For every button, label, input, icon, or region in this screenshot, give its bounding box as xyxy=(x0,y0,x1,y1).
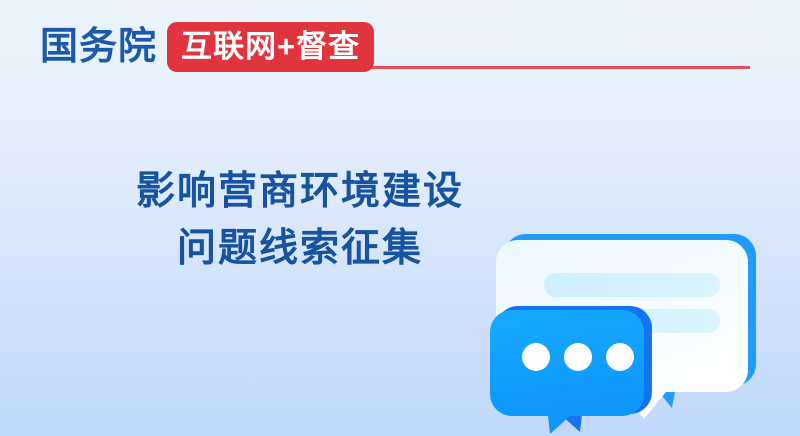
organization-name: 国务院 xyxy=(40,28,157,66)
front-bubble-body xyxy=(490,310,644,434)
banner-header: 国务院 互联网+督查 xyxy=(40,22,374,72)
header-divider-rule xyxy=(352,66,750,69)
internet-plus-supervision-badge: 互联网+督查 xyxy=(167,22,374,72)
banner-root: 国务院 互联网+督查 影响营商环境建设 问题线索征集 xyxy=(0,0,800,436)
typing-dots xyxy=(522,343,634,371)
chat-bubbles-illustration xyxy=(460,205,780,436)
